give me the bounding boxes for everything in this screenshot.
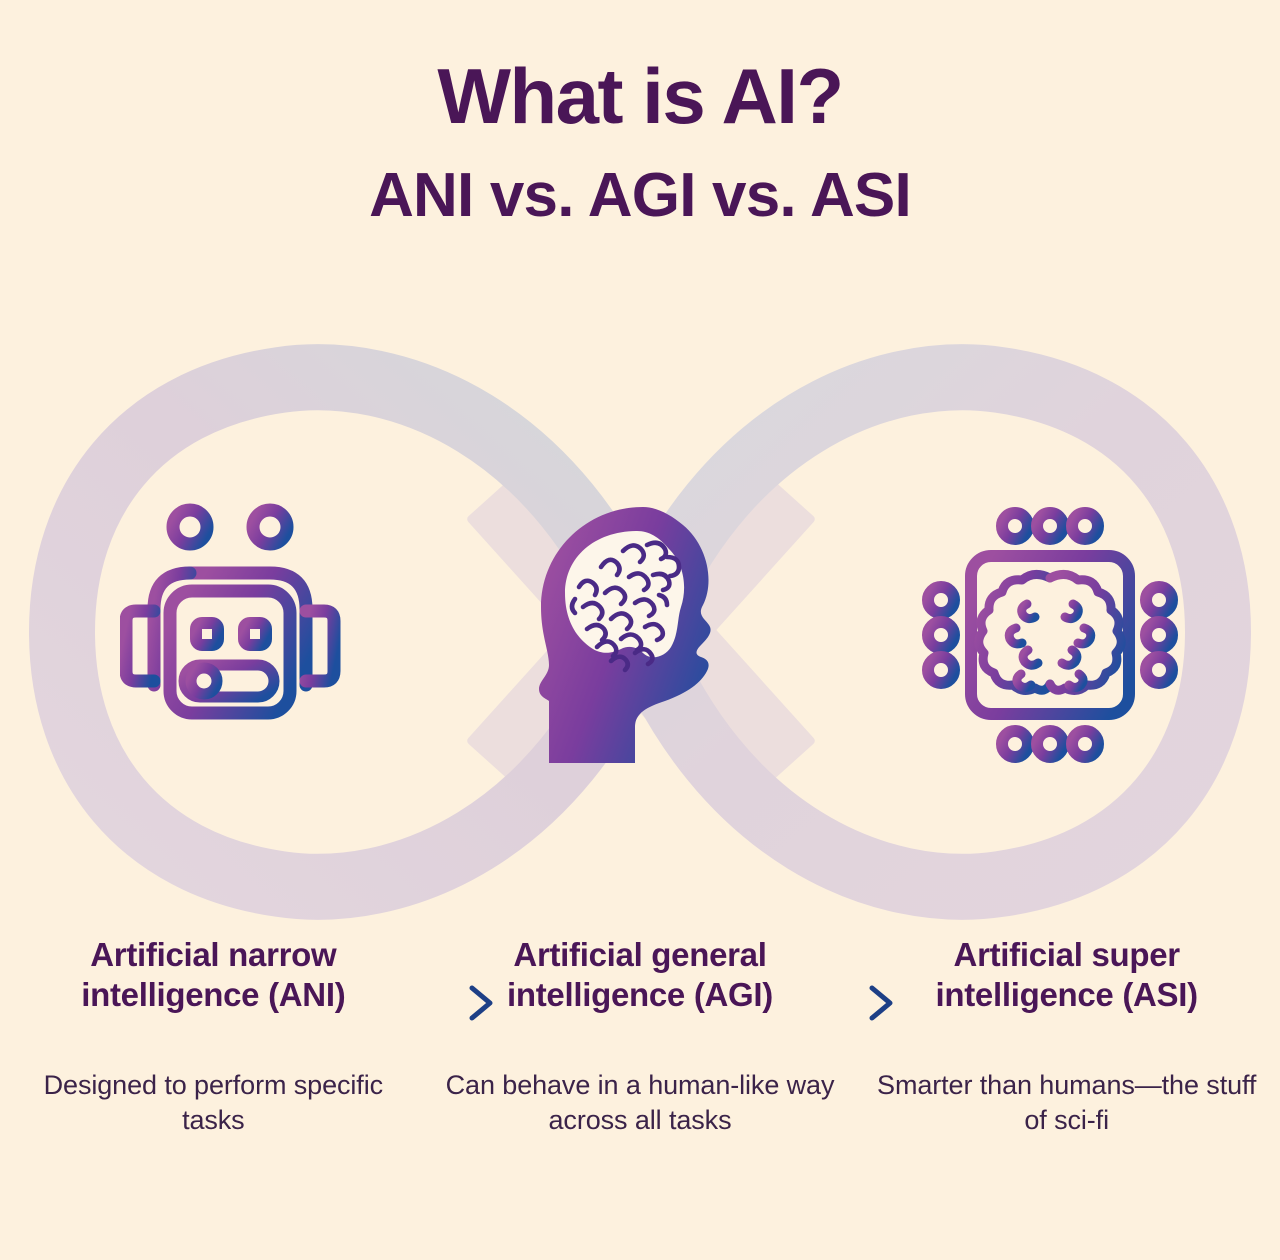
icon-slot-ani — [60, 375, 420, 895]
column-heading-ani: Artificial narrow intelligence (ANI) — [14, 935, 413, 1016]
column-ani: Artificial narrow intelligence (ANI) Des… — [0, 935, 427, 1235]
icon-slot-agi — [460, 375, 820, 895]
column-heading-asi: Artificial super intelligence (ASI) — [867, 935, 1266, 1016]
description-columns: Artificial narrow intelligence (ANI) Des… — [0, 935, 1280, 1235]
column-heading-agi: Artificial general intelligence (AGI) — [441, 935, 840, 1016]
chip-brain-icon — [915, 500, 1185, 770]
head-brain-icon — [525, 495, 755, 775]
column-body-asi: Smarter than humans—the stuff of sci-fi — [867, 1068, 1266, 1138]
page-subtitle: ANI vs. AGI vs. ASI — [0, 163, 1280, 228]
chip-brain-shape — [979, 574, 1122, 696]
column-asi: Artificial super intelligence (ASI) Smar… — [853, 935, 1280, 1235]
title-block: What is AI? ANI vs. AGI vs. ASI — [0, 56, 1280, 228]
robot-icon — [120, 495, 360, 775]
infographic-canvas: What is AI? ANI vs. AGI vs. ASI — [0, 0, 1280, 1260]
icon-slot-asi — [870, 375, 1230, 895]
column-body-ani: Designed to perform specific tasks — [14, 1068, 413, 1138]
column-body-agi: Can behave in a human-like way across al… — [441, 1068, 840, 1138]
column-agi: Artificial general intelligence (AGI) Ca… — [427, 935, 854, 1235]
page-title: What is AI? — [0, 56, 1280, 137]
icon-row — [0, 375, 1280, 895]
